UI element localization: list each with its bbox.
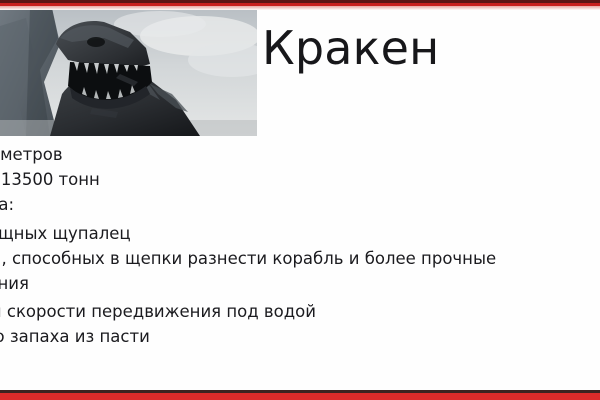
- body-line-4: нных и мощных щупалец: [0, 226, 131, 243]
- body-line-3: ен из-за:: [0, 197, 14, 214]
- hero-image-artwork: [0, 8, 257, 136]
- body-line-8: хого запаха из пасти: [0, 329, 150, 346]
- body-line-5: юстей, способных в щепки разнести корабл…: [0, 251, 496, 268]
- bottom-accent-bar: [0, 390, 600, 400]
- top-bar-fade-band: [0, 6, 600, 10]
- top-accent-bar: [0, 0, 600, 11]
- slide-canvas: Кракен ≈90 метров ≈13500 тонн ен из-за: …: [0, 0, 600, 400]
- body-line-2: ≈13500 тонн: [0, 172, 100, 189]
- page-title: Кракен: [262, 24, 439, 72]
- hero-image: [0, 8, 257, 136]
- bottom-bar-red-band: [0, 393, 600, 400]
- body-line-7: ьшой скорости передвижения под водой: [0, 304, 316, 321]
- body-line-6: пления: [0, 276, 29, 293]
- body-line-1: ≈90 метров: [0, 147, 63, 164]
- body-text-block: ≈90 метров ≈13500 тонн ен из-за: нных и …: [0, 143, 600, 386]
